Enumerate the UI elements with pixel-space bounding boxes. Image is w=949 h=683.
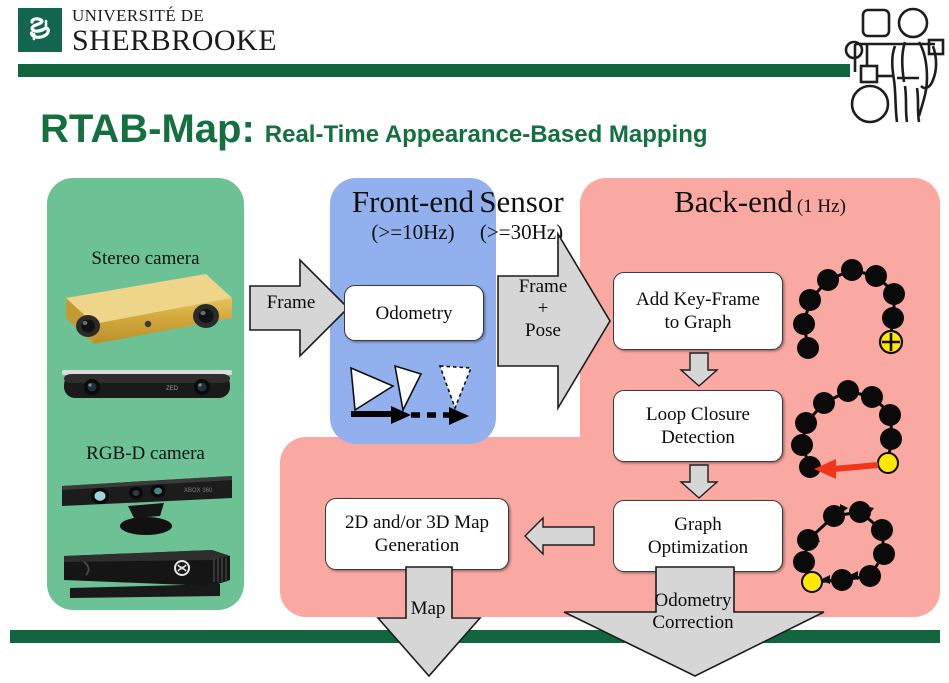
backend-panel-title: Back-end (1 Hz): [580, 184, 940, 220]
zed-caption: ZED: [166, 386, 179, 392]
frame-pose-arrow-label: Frame + Pose: [505, 276, 581, 342]
add-keyframe-line-1: Add Key-Frame: [636, 288, 760, 311]
university-wordmark: UNIVERSITÉ DE SHERBROOKE: [72, 6, 492, 56]
xbox360-caption: XBOX 360: [184, 488, 213, 494]
university-line-2: SHERBROOKE: [72, 25, 492, 56]
frame-arrow-label: Frame: [256, 292, 326, 314]
keyframe-graph-thumb: [790, 252, 920, 367]
odometry-process-box[interactable]: Odometry: [344, 285, 484, 341]
title-main: RTAB-Map:: [40, 108, 255, 150]
frame-pose-line-2: +: [505, 298, 581, 320]
graph-optimization-line-2: Optimization: [648, 536, 748, 559]
kinect360-photo: XBOX 360: [58, 470, 236, 545]
graph-optimization-line-1: Graph: [648, 513, 748, 536]
map-arrow-label: Map: [400, 598, 456, 620]
odometry-process-label: Odometry: [375, 302, 452, 325]
graph-optimization-process-box[interactable]: Graph Optimization: [613, 500, 783, 572]
zed-camera-photo: ZED: [62, 368, 232, 409]
frame-pose-line-1: Frame: [505, 276, 581, 298]
loop-closure-graph-thumb: [790, 375, 920, 490]
odometry-pose-illustration: [345, 362, 485, 439]
add-keyframe-process-box[interactable]: Add Key-Frame to Graph: [613, 272, 783, 350]
odometry-correction-line-2: Correction: [633, 612, 753, 634]
frontend-panel-title: Front-end (>=10Hz): [330, 184, 496, 245]
loop-closure-line-1: Loop Closure: [646, 403, 750, 426]
loop-closure-line-2: Detection: [646, 426, 750, 449]
add-keyframe-line-2: to Graph: [636, 311, 760, 334]
step-arrow-keyframe-to-loop: [679, 352, 719, 393]
step-arrow-loop-to-optimization: [679, 464, 719, 505]
header-divider: [18, 64, 850, 77]
university-line-1: UNIVERSITÉ DE: [72, 6, 492, 25]
loop-closure-process-box[interactable]: Loop Closure Detection: [613, 390, 783, 462]
map-generation-process-box[interactable]: 2D and/or 3D Map Generation: [325, 498, 509, 570]
optimized-current-node: [802, 572, 822, 592]
frontend-rate-text: (>=10Hz): [330, 220, 496, 245]
backend-rate-text: (1 Hz): [797, 196, 846, 217]
odometry-correction-line-1: Odometry: [633, 590, 753, 612]
frame-pose-line-3: Pose: [505, 320, 581, 342]
stereo-camera-photo: [56, 272, 236, 361]
kinect-one-photo: [62, 548, 234, 611]
optimized-graph-thumb: [790, 488, 920, 601]
map-output-arrow: [376, 566, 482, 683]
loop-closure-link-icon: [814, 459, 878, 479]
map-generation-line-2: Generation: [345, 534, 489, 557]
stereo-camera-label: Stereo camera: [47, 248, 244, 270]
robot-and-human-icon: [845, 4, 945, 122]
backend-title-text: Back-end: [674, 184, 793, 219]
rgbd-camera-label: RGB-D camera: [47, 443, 244, 465]
slide-canvas: UNIVERSITÉ DE SHERBROOKE: [0, 0, 949, 678]
step-arrow-optimization-to-map: [524, 516, 596, 561]
odometry-correction-arrow-label: Odometry Correction: [633, 590, 753, 634]
current-node: [878, 453, 898, 473]
title-subtitle: Real-Time Appearance-Based Mapping: [265, 122, 708, 148]
map-generation-line-1: 2D and/or 3D Map: [345, 511, 489, 534]
frontend-title-text: Front-end: [330, 184, 496, 220]
sherbrooke-s-logo-icon: [18, 8, 62, 52]
page-title: RTAB-Map: Real-Time Appearance-Based Map…: [40, 108, 708, 150]
